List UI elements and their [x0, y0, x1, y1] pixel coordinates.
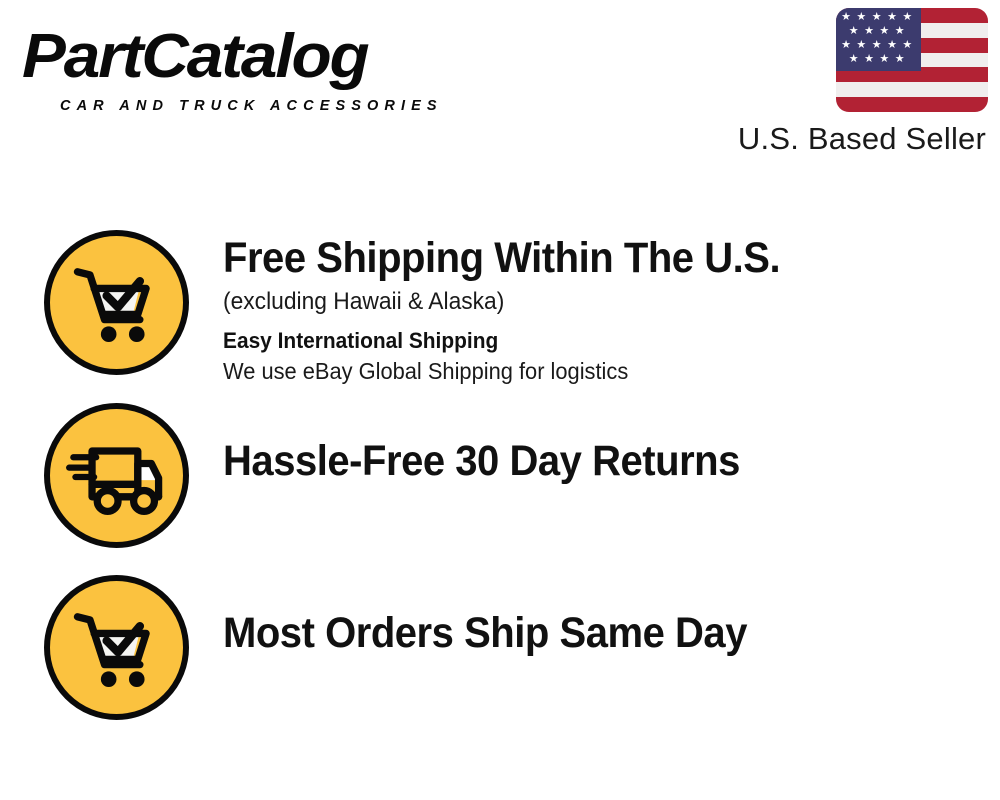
flag-star-icon: ★ — [895, 26, 905, 37]
seller-info-banner: PartCatalog CAR AND TRUCK ACCESSORIES ★ … — [0, 0, 1000, 800]
brand-wordmark: PartCatalog — [22, 22, 368, 92]
feature-title: Hassle-Free 30 Day Returns — [223, 436, 946, 486]
feature-text-block: Hassle-Free 30 Day Returns — [223, 398, 1000, 486]
feature-title: Most Orders Ship Same Day — [223, 608, 946, 658]
shopping-cart-check-icon — [44, 575, 189, 720]
feature-sub-title: Easy International Shipping — [223, 327, 961, 355]
flag-star-icon: ★ — [849, 54, 859, 65]
flag-star-icon: ★ — [856, 12, 866, 23]
flag-star-icon: ★ — [879, 26, 889, 37]
feature-text-block: Free Shipping Within The U.S. (excluding… — [223, 225, 1000, 386]
flag-star-icon: ★ — [895, 54, 905, 65]
flag-star-icon: ★ — [841, 40, 851, 51]
feature-note: (excluding Hawaii & Alaska) — [223, 286, 961, 317]
shopping-cart-check-icon — [44, 230, 189, 375]
flag-star-icon: ★ — [872, 12, 882, 23]
flag-stripe-white — [836, 82, 988, 97]
flag-star-icon: ★ — [902, 40, 912, 51]
flag-star-icon: ★ — [856, 40, 866, 51]
us-based-seller-badge: ★ ★ ★ ★ ★ ★ ★ ★ ★ ★ ★ ★ ★ ★ ★ ★ ★ — [708, 8, 988, 157]
feature-sub-note: We use eBay Global Shipping for logistic… — [223, 356, 961, 386]
banner-header: PartCatalog CAR AND TRUCK ACCESSORIES ★ … — [0, 0, 1000, 170]
feature-row: Most Orders Ship Same Day — [0, 570, 1000, 742]
flag-star-icon: ★ — [841, 12, 851, 23]
us-flag-icon: ★ ★ ★ ★ ★ ★ ★ ★ ★ ★ ★ ★ ★ ★ ★ ★ ★ — [836, 8, 988, 112]
us-based-seller-label: U.S. Based Seller — [708, 121, 988, 157]
flag-star-icon: ★ — [864, 54, 874, 65]
brand-tagline: CAR AND TRUCK ACCESSORIES — [60, 98, 443, 114]
flag-stripe-red — [836, 97, 988, 112]
delivery-truck-icon — [44, 403, 189, 548]
feature-text-block: Most Orders Ship Same Day — [223, 570, 1000, 658]
feature-row: Hassle-Free 30 Day Returns — [0, 398, 1000, 570]
flag-star-icon: ★ — [887, 12, 897, 23]
flag-star-icon: ★ — [879, 54, 889, 65]
flag-stars: ★ ★ ★ ★ ★ ★ ★ ★ ★ ★ ★ ★ ★ ★ ★ ★ ★ — [836, 8, 921, 71]
flag-star-icon: ★ — [872, 40, 882, 51]
flag-star-icon: ★ — [902, 12, 912, 23]
partcatalog-logo: PartCatalog CAR AND TRUCK ACCESSORIES — [22, 22, 492, 117]
flag-star-icon: ★ — [864, 26, 874, 37]
flag-star-icon: ★ — [887, 40, 897, 51]
feature-title: Free Shipping Within The U.S. — [223, 233, 946, 283]
feature-row: Free Shipping Within The U.S. (excluding… — [0, 225, 1000, 398]
flag-star-icon: ★ — [849, 26, 859, 37]
